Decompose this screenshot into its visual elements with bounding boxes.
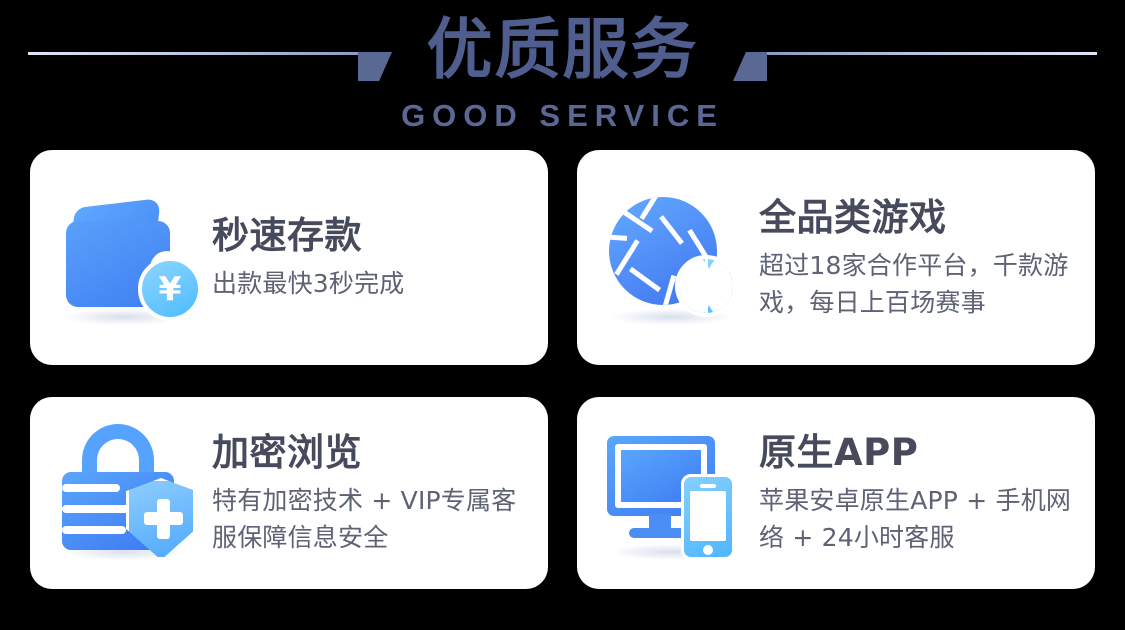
soccer-basketball-icon xyxy=(603,183,753,333)
feature-card-deposit[interactable]: ¥ 秒速存款 出款最快3秒完成 xyxy=(30,150,548,365)
card-title: 加密浏览 xyxy=(212,430,526,476)
page-header: 优质服务 GOOD SERVICE xyxy=(0,0,1125,145)
card-text-block: 全品类游戏 超过18家合作平台，千款游戏，每日上百场赛事 xyxy=(753,195,1073,321)
card-text-block: 原生APP 苹果安卓原生APP + 手机网络 + 24小时客服 xyxy=(753,430,1073,556)
monitor-phone-icon xyxy=(603,418,753,568)
page-title: 优质服务 xyxy=(0,10,1125,90)
card-subtitle: 苹果安卓原生APP + 手机网络 + 24小时客服 xyxy=(759,482,1073,556)
card-title: 原生APP xyxy=(759,430,1073,476)
feature-card-games[interactable]: 全品类游戏 超过18家合作平台，千款游戏，每日上百场赛事 xyxy=(577,150,1095,365)
card-title: 全品类游戏 xyxy=(759,195,1073,241)
card-subtitle: 超过18家合作平台，千款游戏，每日上百场赛事 xyxy=(759,247,1073,321)
card-subtitle: 特有加密技术 + VIP专属客服保障信息安全 xyxy=(212,482,526,556)
card-text-block: 秒速存款 出款最快3秒完成 xyxy=(206,213,526,302)
yen-coin-icon: ¥ xyxy=(138,257,202,321)
wallet-icon: ¥ xyxy=(56,183,206,333)
page-subtitle: GOOD SERVICE xyxy=(0,98,1125,134)
feature-card-grid: ¥ 秒速存款 出款最快3秒完成 全品类游戏 超过18家合作平台，千款游戏，每 xyxy=(30,150,1095,589)
basketball-icon xyxy=(675,255,737,317)
card-text-block: 加密浏览 特有加密技术 + VIP专属客服保障信息安全 xyxy=(206,430,526,556)
feature-card-native-app[interactable]: 原生APP 苹果安卓原生APP + 手机网络 + 24小时客服 xyxy=(577,397,1095,589)
phone-icon xyxy=(681,474,735,560)
feature-card-encryption[interactable]: 加密浏览 特有加密技术 + VIP专属客服保障信息安全 xyxy=(30,397,548,589)
card-title: 秒速存款 xyxy=(212,213,526,259)
lock-shield-icon xyxy=(56,418,206,568)
card-subtitle: 出款最快3秒完成 xyxy=(212,265,526,302)
